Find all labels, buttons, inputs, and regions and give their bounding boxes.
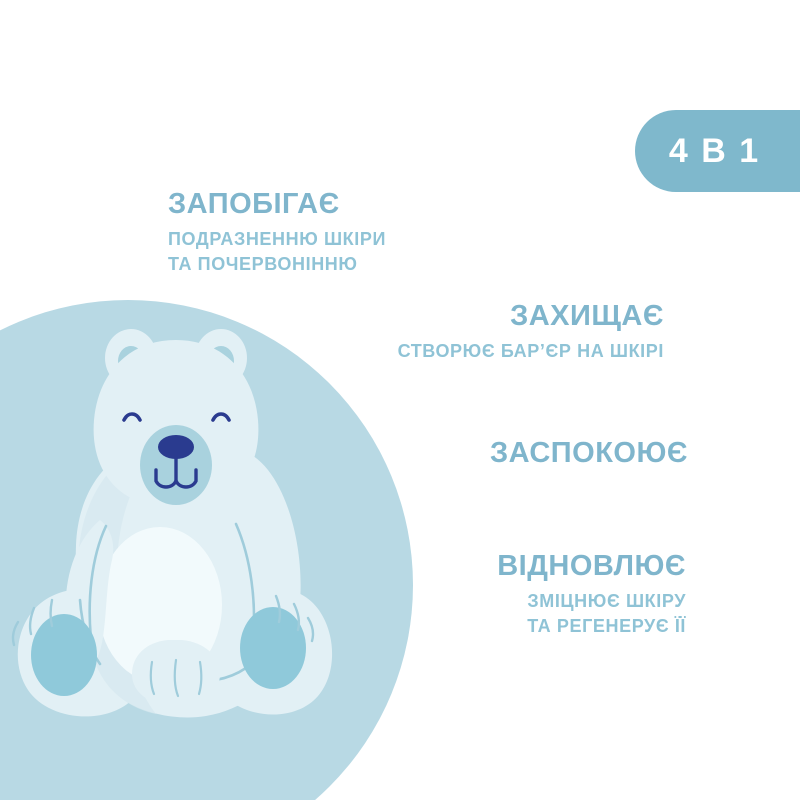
badge-4-in-1[interactable]: 4 В 1 bbox=[635, 110, 800, 192]
bear-arm-left bbox=[66, 520, 113, 660]
bear-contour-right bbox=[236, 524, 254, 652]
benefit-subtitle: СТВОРЮЄ БАР’ЄР НА ШКІРІ bbox=[398, 339, 664, 363]
promo-canvas: 4 В 1 ЗАПОБІГАЄ ПОДРАЗНЕННЮ ШКІРИ ТА ПОЧ… bbox=[0, 0, 800, 800]
benefit-title: ЗАХИЩАЄ bbox=[398, 300, 664, 332]
bear-ear-left-inner bbox=[118, 346, 144, 376]
bear-nose bbox=[158, 435, 194, 459]
bear-eye-right bbox=[213, 414, 229, 420]
bear-mouth bbox=[156, 458, 196, 487]
benefit-block-soothes: ЗАСПОКОЮЄ bbox=[490, 437, 688, 469]
badge-label: 4 В 1 bbox=[669, 134, 766, 168]
bear-head bbox=[94, 340, 259, 508]
bear-front-paw-lines bbox=[151, 660, 202, 696]
benefit-block-restores: ВІДНОВЛЮЄ ЗМІЦНЮЄ ШКІРУ ТА РЕГЕНЕРУЄ ЇЇ bbox=[497, 550, 686, 638]
benefit-title: ВІДНОВЛЮЄ bbox=[497, 550, 686, 582]
benefit-subtitle-line: ЗМІЦНЮЄ ШКІРУ bbox=[497, 589, 686, 613]
bear-eye-left bbox=[124, 414, 140, 420]
benefit-block-protects: ЗАХИЩАЄ СТВОРЮЄ БАР’ЄР НА ШКІРІ bbox=[398, 300, 664, 364]
bear-body-shadow bbox=[78, 440, 176, 714]
bear-leg-left bbox=[18, 589, 149, 717]
benefit-subtitle: ЗМІЦНЮЄ ШКІРУ ТА РЕГЕНЕРУЄ ЇЇ bbox=[497, 589, 686, 638]
teddy-bear bbox=[13, 329, 332, 717]
bear-paw-pad-left bbox=[31, 614, 97, 696]
bear-contour-left bbox=[90, 526, 106, 648]
bear-arm-right bbox=[230, 518, 280, 666]
bear-ear-left bbox=[105, 329, 157, 387]
bear-belly bbox=[98, 527, 222, 683]
benefit-subtitle-line: СТВОРЮЄ БАР’ЄР НА ШКІРІ bbox=[398, 339, 664, 363]
bear-contour-left-2 bbox=[80, 600, 100, 664]
bear-ear-right-inner bbox=[208, 346, 234, 376]
bear-body bbox=[76, 440, 301, 717]
circle-backdrop bbox=[0, 300, 413, 800]
benefit-title: ЗАПОБІГАЄ bbox=[168, 188, 386, 220]
benefit-subtitle: ПОДРАЗНЕННЮ ШКІРИ ТА ПОЧЕРВОНІННЮ bbox=[168, 227, 386, 276]
bear-toe-lines-left bbox=[13, 600, 52, 645]
benefit-subtitle-line: ТА РЕГЕНЕРУЄ ЇЇ bbox=[497, 614, 686, 638]
bear-ear-right bbox=[195, 329, 247, 387]
benefit-block-prevents: ЗАПОБІГАЄ ПОДРАЗНЕННЮ ШКІРИ ТА ПОЧЕРВОНІ… bbox=[168, 188, 386, 276]
bear-leg-right bbox=[206, 586, 332, 715]
bear-paw-pad-right bbox=[240, 607, 306, 689]
bear-eyes bbox=[124, 414, 229, 420]
bear-muzzle bbox=[140, 425, 212, 505]
benefit-subtitle-line: ПОДРАЗНЕННЮ ШКІРИ bbox=[168, 227, 386, 251]
bear-contour-right-2 bbox=[186, 668, 246, 681]
bear-front-paw bbox=[132, 640, 220, 706]
bear-toe-lines-right bbox=[276, 596, 313, 641]
benefit-subtitle-line: ТА ПОЧЕРВОНІННЮ bbox=[168, 252, 386, 276]
benefit-title: ЗАСПОКОЮЄ bbox=[490, 437, 688, 469]
